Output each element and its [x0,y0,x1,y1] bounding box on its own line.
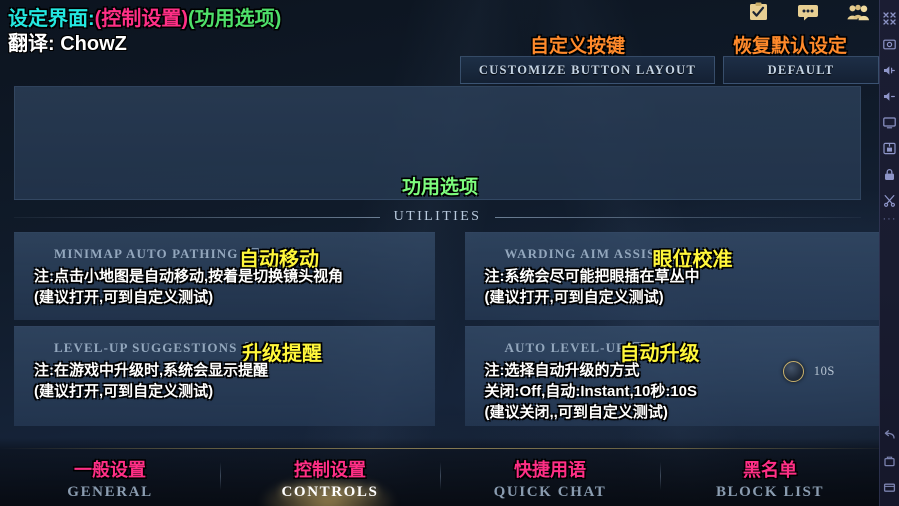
chat-bubble-icon[interactable] [797,2,819,22]
volume-up-icon[interactable] [882,62,898,78]
card-title: MINIMAP AUTO PATHING [54,246,239,262]
home-icon[interactable] [882,454,897,469]
screenshot-icon[interactable] [882,36,898,52]
checklist-icon[interactable] [747,2,769,22]
card-row-2: LEVEL-UP SUGGESTIONS ? 升级提醒 注:在游戏中升级时,系统… [14,326,885,426]
header-button-row: CUSTOMIZE BUTTON LAYOUT DEFAULT [460,56,879,84]
auto-level-up-slider[interactable]: 10S [783,361,835,382]
option-card-warding-aim-assist[interactable]: WARDING AIM ASSIST ? 眼位校准 注:系统会尽可能把眼插在草丛… [465,232,886,320]
annotation-utilities-section: 功用选项 [402,172,478,199]
screen-icon[interactable] [882,114,898,130]
translator-credit: 翻译: ChowZ [8,31,281,57]
header: 设定界面:(控制设置)(功用选项) 翻译: ChowZ [0,0,899,86]
tab-annotation-quick-chat: 快捷用语 [514,456,586,482]
divider-line-left [14,217,380,218]
card-header: LEVEL-UP SUGGESTIONS ? [54,340,257,356]
translation-note: 注:点击小地图是自动移动,按着是切换镜头视角 (建议打开,可到自定义测试) [34,266,343,308]
header-icon-row [747,2,869,22]
title-part-controls: (控制设置) [95,8,188,30]
collapse-icon[interactable] [882,10,898,26]
card-row-1: MINIMAP AUTO PATHING ? 自动移动 注:点击小地图是自动移动… [14,232,885,320]
customize-button-layout-button[interactable]: CUSTOMIZE BUTTON LAYOUT [460,56,715,84]
card-title: AUTO LEVEL-UP [505,340,626,356]
title-separator: : [88,8,95,30]
side-tool-strip: ··· [879,0,899,506]
option-card-level-up-suggestions[interactable]: LEVEL-UP SUGGESTIONS ? 升级提醒 注:在游戏中升级时,系统… [14,326,435,426]
tab-quick-chat[interactable]: 快捷用语 QUICK CHAT [440,450,660,506]
annotation-default-button: 恢复默认设定 [733,31,847,58]
annotation-title-block: 设定界面:(控制设置)(功用选项) 翻译: ChowZ [8,7,281,57]
translation-note: 注:在游戏中升级时,系统会显示提醒 (建议打开,可到自定义测试) [34,360,268,402]
tab-annotation-controls: 控制设置 [294,456,366,482]
lock-icon[interactable] [882,166,898,182]
card-header: MINIMAP AUTO PATHING ? [54,246,259,262]
tab-label-controls: CONTROLS [282,484,379,501]
section-label: UTILITIES [380,209,496,225]
back-icon[interactable] [882,428,897,443]
title-prefix: 设定界面 [8,8,88,30]
tab-annotation-general: 一般设置 [74,456,146,482]
option-card-minimap-auto-pathing[interactable]: MINIMAP AUTO PATHING ? 自动移动 注:点击小地图是自动移动… [14,232,435,320]
default-button[interactable]: DEFAULT [723,56,879,84]
more-tools-icon[interactable]: ··· [883,215,897,223]
scissors-icon[interactable] [882,192,898,208]
tab-general[interactable]: 一般设置 GENERAL [0,450,220,506]
volume-down-icon[interactable] [882,88,898,104]
bottom-tab-bar: 一般设置 GENERAL 控制设置 CONTROLS 快捷用语 QUICK CH… [0,438,899,506]
tab-label-quick-chat: QUICK CHAT [494,484,607,501]
friends-icon[interactable] [847,2,869,22]
recents-icon[interactable] [882,480,897,495]
section-divider-utilities: UTILITIES [14,205,861,229]
card-title: LEVEL-UP SUGGESTIONS [54,340,237,356]
tab-label-general: GENERAL [67,484,152,501]
annotation-customize-button: 自定义按键 [530,31,625,58]
annotation-title-line: 设定界面:(控制设置)(功用选项) [8,7,281,31]
slider-value-label: 10S [814,364,835,379]
title-part-utilities: (功用选项) [188,8,281,30]
option-card-auto-level-up[interactable]: AUTO LEVEL-UP ? 自动升级 10S 注:选择自动升级的方式 关闭:… [465,326,886,426]
tab-bar-rule [0,448,899,449]
tab-label-block-list: BLOCK LIST [716,484,824,501]
tab-list: 一般设置 GENERAL 控制设置 CONTROLS 快捷用语 QUICK CH… [0,450,880,506]
screen-record-icon[interactable] [882,140,898,156]
utilities-card-grid: MINIMAP AUTO PATHING ? 自动移动 注:点击小地图是自动移动… [14,232,885,426]
tab-block-list[interactable]: 黑名单 BLOCK LIST [660,450,880,506]
card-title: WARDING AIM ASSIST [505,246,666,262]
settings-screen: 设定界面:(控制设置)(功用选项) 翻译: ChowZ [0,0,899,506]
tab-controls[interactable]: 控制设置 CONTROLS [220,450,440,506]
translation-note: 注:选择自动升级的方式 关闭:Off,自动:Instant,10秒:10S (建… [485,360,698,423]
slider-knob[interactable] [783,361,804,382]
divider-line-right [495,217,861,218]
translation-note: 注:系统会尽可能把眼插在草丛中 (建议打开,可到自定义测试) [485,266,700,308]
tab-annotation-block-list: 黑名单 [743,456,797,482]
